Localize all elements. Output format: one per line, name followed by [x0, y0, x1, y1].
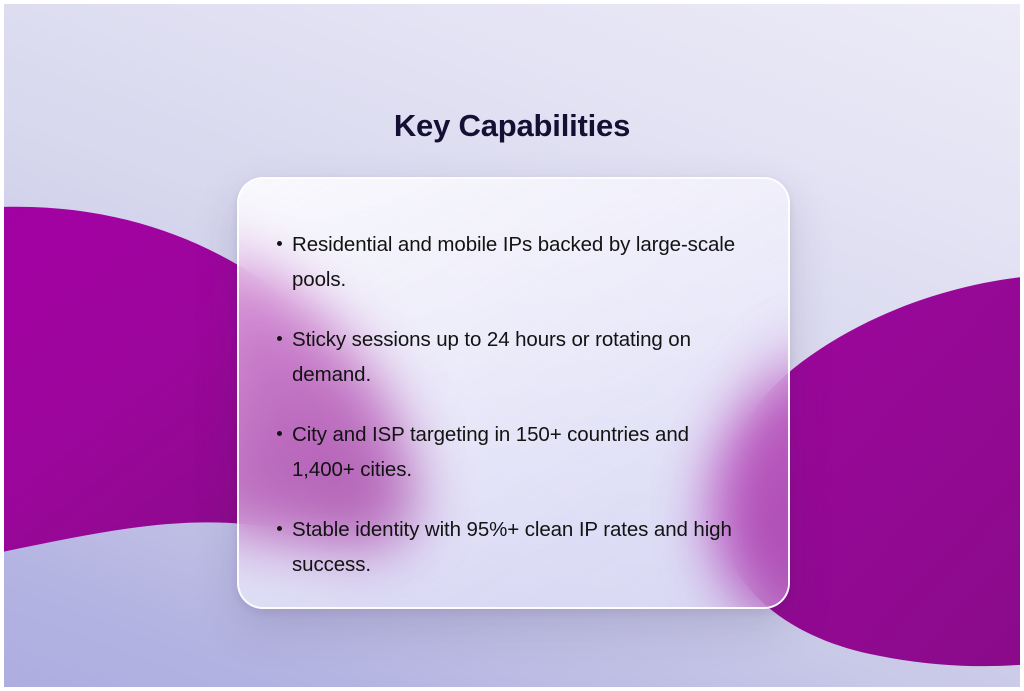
capabilities-list: Residential and mobile IPs backed by lar… — [277, 227, 766, 582]
slide: Key Capabilities Residential and mobile … — [0, 0, 1024, 691]
list-item-label: Sticky sessions up to 24 hours or rotati… — [292, 322, 747, 392]
list-item-label: Residential and mobile IPs backed by lar… — [292, 227, 747, 297]
bullet-dot-icon — [277, 526, 282, 531]
bullet-dot-icon — [277, 431, 282, 436]
slide-background: Key Capabilities Residential and mobile … — [4, 4, 1020, 687]
list-item: Sticky sessions up to 24 hours or rotati… — [277, 322, 747, 392]
list-item: City and ISP targeting in 150+ countries… — [277, 417, 747, 487]
key-capabilities-card: Residential and mobile IPs backed by lar… — [237, 177, 790, 609]
list-item-label: City and ISP targeting in 150+ countries… — [292, 417, 747, 487]
bullet-dot-icon — [277, 241, 282, 246]
list-item: Stable identity with 95%+ clean IP rates… — [277, 512, 747, 582]
list-item: Residential and mobile IPs backed by lar… — [277, 227, 747, 297]
page-title: Key Capabilities — [4, 108, 1020, 144]
bullet-dot-icon — [277, 336, 282, 341]
list-item-label: Stable identity with 95%+ clean IP rates… — [292, 512, 747, 582]
